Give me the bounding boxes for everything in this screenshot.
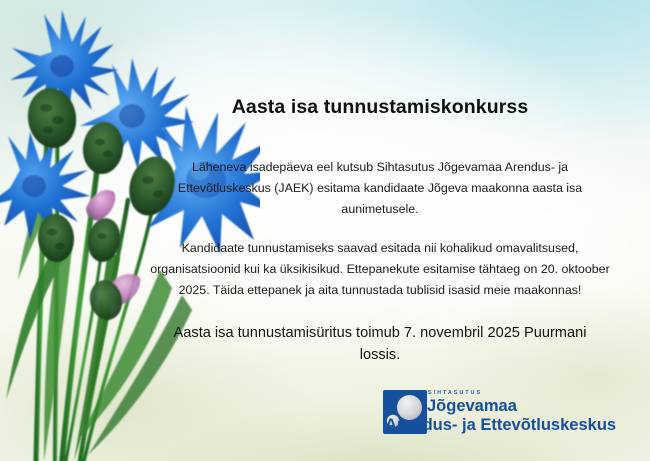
jaek-logo-line1: Jõgevamaa [427, 398, 639, 415]
jaek-logo-kicker: SIHTASUTUS [428, 390, 639, 397]
poster-canvas: Aasta isa tunnustamiskonkurss Läheneva i… [0, 0, 650, 461]
jaek-logo: SIHTASUTUS Jõgevamaa Arendus- ja Ettevõt… [383, 389, 633, 441]
jaek-logo-line2: Arendus- ja Ettevõtluskeskus [385, 416, 639, 434]
intro-paragraph: Läheneva isadepäeva eel kutsub Sihtasutu… [130, 157, 630, 220]
details-paragraph: Kandidaate tunnustamiseks saavad esitada… [130, 238, 630, 301]
jaek-logo-wordmark: SIHTASUTUS Jõgevamaa Arendus- ja Ettevõt… [424, 389, 639, 434]
event-paragraph: Aasta isa tunnustamisüritus toimub 7. no… [130, 322, 630, 366]
page-title: Aasta isa tunnustamiskonkurss [130, 96, 630, 119]
